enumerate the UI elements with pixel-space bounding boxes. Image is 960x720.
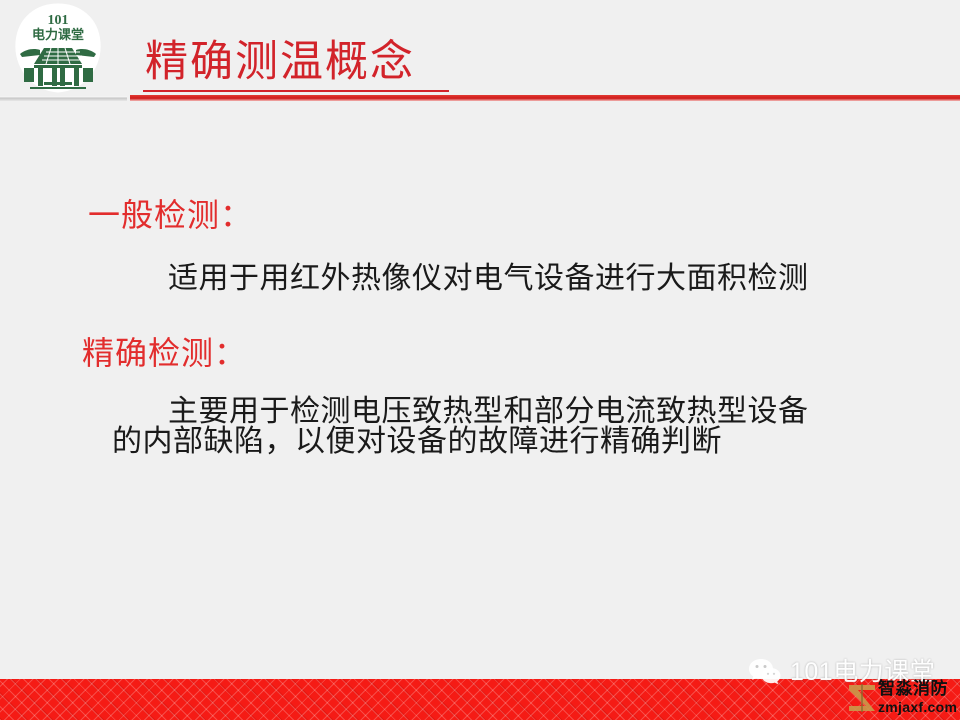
organization-logo: 101 电力课堂	[8, 2, 108, 94]
slide-content: 一般检测： 适用于用红外热像仪对电气设备进行大面积检测 精确检测： 主要用于检测…	[0, 102, 960, 680]
header-rule-gray	[0, 96, 127, 101]
slide-root: 101 电力课堂	[0, 0, 960, 720]
section-text-precise-detection-line-2: 的内部缺陷，以便对设备的故障进行精确判断	[112, 424, 722, 460]
footer-red-bar	[0, 679, 960, 720]
page-title: 精确测温概念	[145, 38, 415, 88]
section-text-general-detection-line-1: 适用于用红外热像仪对电气设备进行大面积检测	[168, 260, 809, 298]
zmjaxf-badge-text: 智淼消防 zmjaxf.com	[878, 679, 960, 717]
section-heading-general-detection: 一般检测：	[88, 196, 253, 234]
title-underline	[143, 90, 449, 92]
svg-text:电力课堂: 电力课堂	[32, 27, 84, 42]
zmjaxf-logo-icon	[842, 678, 882, 718]
section-heading-precise-detection: 精确检测：	[82, 334, 247, 372]
zmjaxf-badge-url: zmjaxf.com	[878, 699, 957, 715]
slide-header: 101 电力课堂	[0, 0, 960, 102]
zmjaxf-badge: 智淼消防 zmjaxf.com	[842, 676, 960, 720]
zmjaxf-badge-title: 智淼消防	[878, 679, 948, 698]
svg-text:101: 101	[48, 13, 69, 28]
header-rule-red	[130, 95, 960, 101]
